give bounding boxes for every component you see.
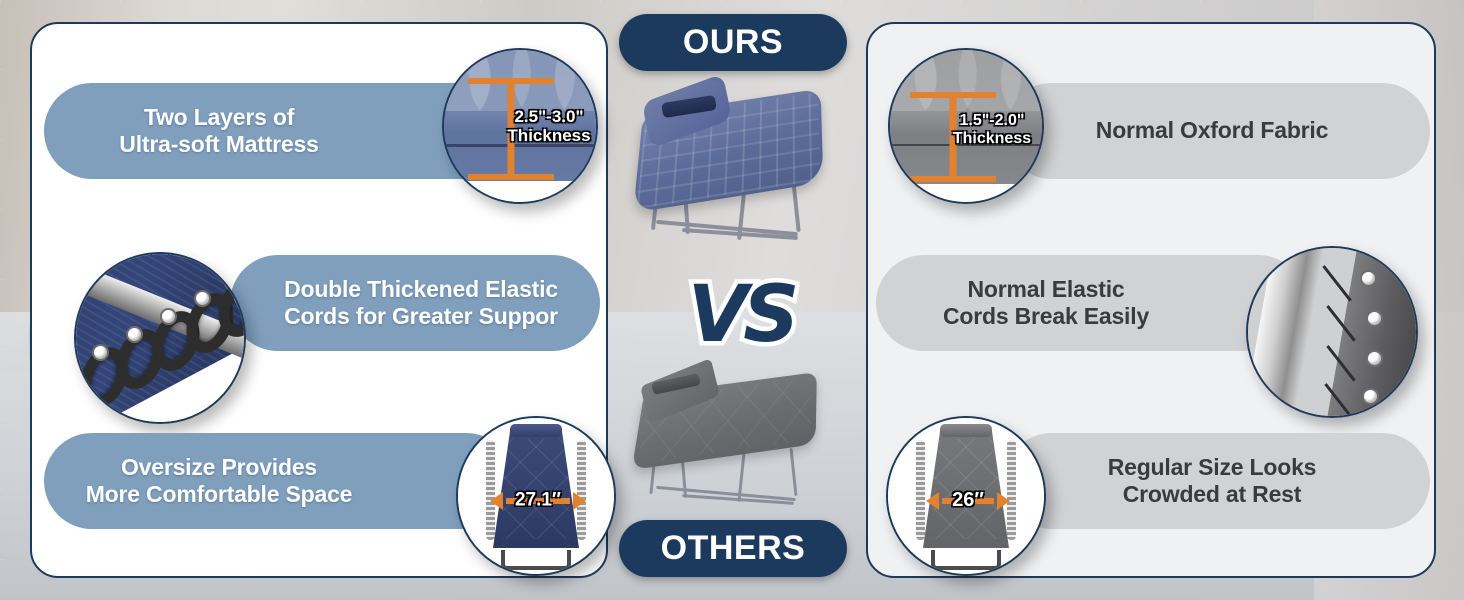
cord-eyelet: [1360, 270, 1377, 287]
blue-lounger-illustration: [620, 82, 848, 262]
cot-spring-left: [486, 440, 495, 540]
others-thickness-value: 1.5"-2.0": [942, 112, 1042, 130]
others-feature-size-pill[interactable]: Regular Size Looks Crowded at Rest: [1004, 433, 1430, 529]
badge-others-label: OTHERS: [661, 529, 806, 568]
measure-cap-bottom: [910, 176, 996, 182]
others-thickness-word: Thickness: [942, 130, 1042, 148]
others-cot-size-photo: 26″: [886, 416, 1046, 576]
others-fabric-thickness-photo: 1.5"-2.0" Thickness: [888, 48, 1044, 204]
ours-feature-mattress-line1: Two Layers of: [119, 104, 318, 131]
cot-frame-leg: [501, 550, 571, 570]
arrow-left-icon: [490, 492, 503, 510]
cot-frame-leg: [931, 550, 1001, 570]
mattress-base-strip: [890, 184, 1042, 202]
ours-cot-size-photo: 27.1″: [456, 416, 616, 576]
thin-broken-cord: [1322, 265, 1351, 302]
ours-feature-size-pill[interactable]: Oversize Provides More Comfortable Space: [44, 433, 514, 529]
badge-ours-label: OURS: [683, 23, 783, 62]
ours-feature-cords-pill[interactable]: Double Thickened Elastic Cords for Great…: [230, 255, 600, 351]
others-feature-cords-pill[interactable]: Normal Elastic Cords Break Easily: [876, 255, 1306, 351]
ours-elastic-cords-photo: [74, 252, 246, 424]
ours-feature-cords-line2: Cords for Greater Suppor: [284, 303, 558, 330]
others-feature-size-line2: Crowded at Rest: [1108, 481, 1317, 508]
mattress-base-strip: [444, 181, 596, 202]
ours-feature-size-line1: Oversize Provides: [86, 454, 353, 481]
ours-panel: Two Layers of Ultra-soft Mattress 2.5"-3…: [30, 22, 608, 578]
gray-lounger-illustration: [620, 368, 848, 523]
others-width-measure: 26″: [926, 492, 1010, 510]
ours-feature-mattress-line2: Ultra-soft Mattress: [119, 131, 318, 158]
others-panel: Normal Oxford Fabric 1.5"-2.0" Thickness…: [866, 22, 1436, 578]
cot-pillow: [940, 424, 992, 437]
cord-eyelet: [126, 326, 143, 343]
cord-eyelet: [194, 290, 211, 307]
cord-eyelet: [1366, 350, 1383, 367]
ours-thickness-value: 2.5"-3.0": [500, 108, 598, 127]
cord-eyelet: [1366, 310, 1383, 327]
ours-thickness-label: 2.5"-3.0" Thickness: [500, 108, 598, 145]
others-feature-cords-line1: Normal Elastic: [943, 276, 1149, 303]
others-width-value: 26″: [952, 489, 984, 512]
others-feature-size-line1: Regular Size Looks: [1108, 454, 1317, 481]
ours-mattress-thickness-photo: 2.5"-3.0" Thickness: [442, 48, 598, 204]
others-feature-fabric-line1: Normal Oxford Fabric: [1096, 117, 1328, 144]
ours-thickness-word: Thickness: [500, 127, 598, 146]
leg: [791, 180, 800, 232]
metal-tube: [1246, 246, 1327, 418]
cord-eyelet: [92, 344, 109, 361]
cot-spring-right: [577, 440, 586, 540]
blue-cord-scene: [76, 254, 244, 422]
leg: [789, 448, 797, 496]
cot-spring-left: [916, 440, 925, 540]
ours-feature-cords-line1: Double Thickened Elastic: [284, 276, 558, 303]
cord-eyelet: [1362, 388, 1379, 405]
arrow-right-icon: [997, 492, 1010, 510]
others-elastic-cords-photo: [1246, 246, 1418, 418]
badge-ours: OURS: [619, 14, 847, 71]
ours-width-value: 27.1″: [515, 490, 561, 512]
arrow-left-icon: [926, 492, 939, 510]
cot-photo-bg: 27.1″: [458, 418, 614, 574]
cot-photo-bg: 26″: [888, 418, 1044, 574]
vs-label: VS: [688, 276, 795, 354]
vs-divider: VS: [676, 262, 806, 367]
others-thickness-label: 1.5"-2.0" Thickness: [942, 112, 1042, 147]
hero-product-ours: [620, 82, 848, 262]
ours-width-measure: 27.1″: [490, 492, 586, 510]
cord-eyelet: [160, 308, 177, 325]
others-feature-fabric-pill[interactable]: Normal Oxford Fabric: [1004, 83, 1430, 179]
badge-others: OTHERS: [619, 520, 847, 577]
ours-feature-size-line2: More Comfortable Space: [86, 481, 353, 508]
others-feature-cords-line2: Cords Break Easily: [943, 303, 1149, 330]
cot-pillow: [510, 424, 562, 437]
gray-cord-scene: [1248, 248, 1416, 416]
measure-cap-bottom: [468, 174, 554, 180]
arrow-right-icon: [573, 492, 586, 510]
cord-eyelet: [224, 274, 241, 291]
hero-product-others: [620, 368, 848, 523]
cot-spring-right: [1007, 440, 1016, 540]
